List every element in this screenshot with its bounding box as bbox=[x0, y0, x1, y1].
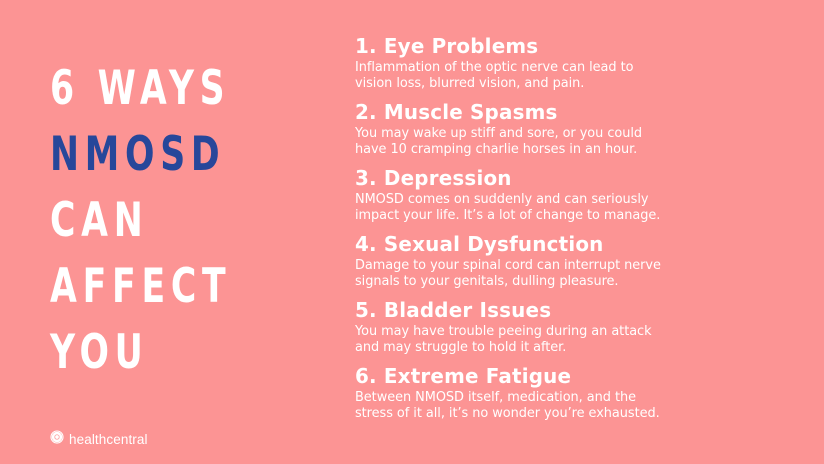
item-heading: 1. Eye Problems bbox=[355, 34, 743, 59]
logo-wordmark: healthcentral bbox=[69, 433, 148, 447]
list-item: 1. Eye Problems Inflammation of the opti… bbox=[355, 34, 755, 91]
list-item: 6. Extreme Fatigue Between NMOSD itself,… bbox=[355, 364, 755, 421]
title-line-2: NMOSD bbox=[50, 122, 288, 188]
aperture-circle-icon bbox=[50, 430, 64, 449]
title-line-5: YOU bbox=[50, 320, 288, 386]
list-item: 2. Muscle Spasms You may wake up stiff a… bbox=[355, 100, 755, 157]
item-heading: 3. Depression bbox=[355, 166, 743, 191]
item-heading: 6. Extreme Fatigue bbox=[355, 364, 743, 389]
title-line-3: CAN bbox=[50, 188, 288, 254]
poster-title: 6 WAYS NMOSD CAN AFFECT YOU bbox=[50, 56, 340, 386]
item-body: You may wake up stiff and sore, or you c… bbox=[355, 126, 749, 157]
list-item: 5. Bladder Issues You may have trouble p… bbox=[355, 298, 755, 355]
item-body: Inflammation of the optic nerve can lead… bbox=[355, 60, 749, 91]
item-body: Damage to your spinal cord can interrupt… bbox=[355, 258, 749, 289]
list-item: 4. Sexual Dysfunction Damage to your spi… bbox=[355, 232, 755, 289]
item-body: You may have trouble peeing during an at… bbox=[355, 324, 749, 355]
item-heading: 5. Bladder Issues bbox=[355, 298, 743, 323]
item-heading: 4. Sexual Dysfunction bbox=[355, 232, 743, 257]
list-item: 3. Depression NMOSD comes on suddenly an… bbox=[355, 166, 755, 223]
healthcentral-logo: healthcentral bbox=[50, 430, 148, 449]
title-line-4: AFFECT bbox=[50, 254, 288, 320]
item-body: Between NMOSD itself, medication, and th… bbox=[355, 390, 749, 421]
item-heading: 2. Muscle Spasms bbox=[355, 100, 743, 125]
title-column: 6 WAYS NMOSD CAN AFFECT YOU healthcent bbox=[50, 0, 350, 464]
infographic-poster: { "colors": { "background": "#fc9494", "… bbox=[0, 0, 824, 464]
title-line-1: 6 WAYS bbox=[50, 56, 288, 122]
item-body: NMOSD comes on suddenly and can seriousl… bbox=[355, 192, 749, 223]
symptoms-list: 1. Eye Problems Inflammation of the opti… bbox=[355, 34, 755, 421]
